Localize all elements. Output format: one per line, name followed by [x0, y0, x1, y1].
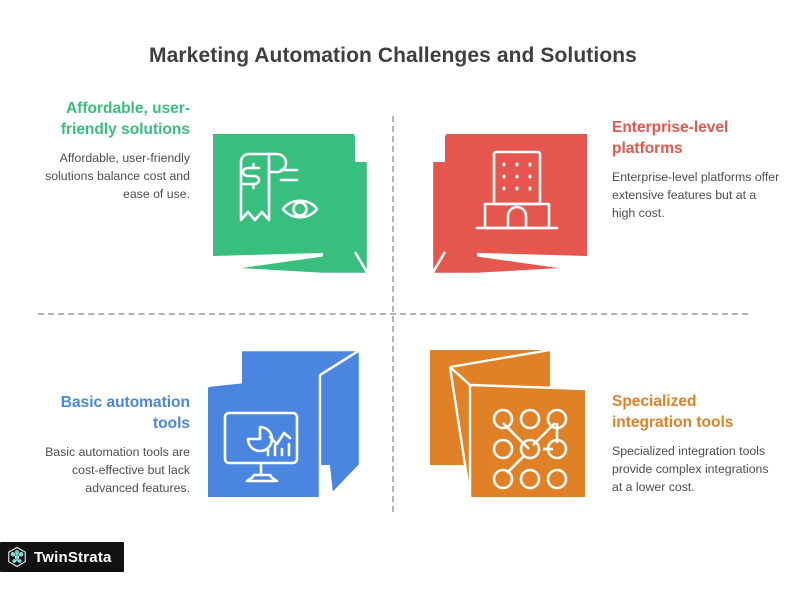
- brand-name: TwinStrata: [34, 549, 112, 566]
- infographic-canvas: Marketing Automation Challenges and Solu…: [0, 0, 786, 600]
- quadrant-text-enterprise: Enterprise-level platforms Enterprise-le…: [612, 118, 780, 223]
- illustration-specialized: [425, 345, 600, 510]
- quadrant-heading-affordable: Affordable, user-friendly solutions: [22, 99, 190, 140]
- hexagon-network-logo: [6, 546, 28, 568]
- quadrant-body-basic: Basic automation tools are cost-effectiv…: [22, 444, 190, 497]
- quadrant-body-enterprise: Enterprise-level platforms offer extensi…: [612, 169, 780, 222]
- illustration-enterprise: [425, 124, 595, 289]
- quadrant-body-affordable: Affordable, user-friendly solutions bala…: [22, 150, 190, 203]
- quadrant-heading-basic: Basic automation tools: [22, 393, 190, 434]
- vertical-divider: [392, 116, 394, 512]
- quadrant-heading-specialized: Specialized integration tools: [612, 392, 780, 433]
- quadrant-heading-enterprise: Enterprise-level platforms: [612, 118, 780, 159]
- brand-logo-bar: TwinStrata: [0, 542, 124, 572]
- quadrant-text-affordable: Affordable, user-friendly solutions Affo…: [22, 99, 190, 204]
- illustration-affordable: [205, 124, 375, 289]
- quadrant-text-basic: Basic automation tools Basic automation …: [22, 393, 190, 498]
- illustration-basic: [200, 345, 380, 510]
- quadrant-text-specialized: Specialized integration tools Specialize…: [612, 392, 780, 497]
- quadrant-body-specialized: Specialized integration tools provide co…: [612, 443, 780, 496]
- page-title: Marketing Automation Challenges and Solu…: [0, 44, 786, 68]
